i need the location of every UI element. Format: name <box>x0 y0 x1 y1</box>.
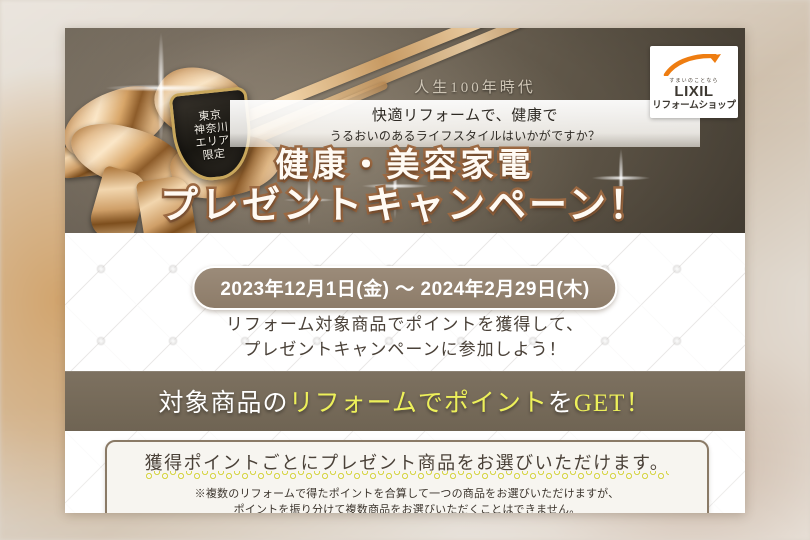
subtitle-line-1: リフォーム対象商品でポイントを獲得して、 <box>65 312 745 337</box>
band-text: 対象商品のリフォームでポイントをGET！ <box>159 383 652 419</box>
campaign-period-pill: 2023年12月1日(金) 〜 2024年2月29日(木) <box>192 266 617 310</box>
subtitle-line-2: プレゼントキャンペーンに参加しよう！ <box>65 337 745 362</box>
headline-line-1: 健康・美容家電 <box>65 146 745 184</box>
bottom-section: 獲得ポイントごとにプレゼント商品をお選びいただけます。 ※複数のリフォームで得た… <box>65 431 745 513</box>
hero-section: 東京 神奈川 エリア 限定 人生100年時代 快適リフォームで、健康で うるおい… <box>65 28 745 233</box>
lixil-swoosh-icon <box>663 54 725 76</box>
eyebrow-text: 人生100年時代 <box>295 76 655 97</box>
lead-copy-band: 快適リフォームで、健康で うるおいのあるライフスタイルはいかがですか？ <box>230 100 700 147</box>
banner-screenshot: 東京 神奈川 エリア 限定 人生100年時代 快適リフォームで、健康で うるおい… <box>0 0 810 540</box>
band-text-part-2: リフォームでポイント <box>289 390 548 417</box>
note-box: 獲得ポイントごとにプレゼント商品をお選びいただけます。 ※複数のリフォームで得た… <box>105 440 709 513</box>
headline: 健康・美容家電 プレゼントキャンペーン！ <box>65 146 745 228</box>
lixil-reform-shop-logo: すまいのことなら LIXIL リフォームショップ <box>650 46 738 118</box>
band-text-part-1: 対象商品の <box>159 390 289 417</box>
subtitle-block: リフォーム対象商品でポイントを獲得して、 プレゼントキャンペーンに参加しよう！ <box>65 312 745 362</box>
note-line-1: ※複数のリフォームで得たポイントを合算して一つの商品をお選びいただけますが、 <box>195 486 620 502</box>
note-line-2: ポイントを振り分けて複数商品をお選びいただくことはできません。 <box>195 502 620 514</box>
note-body: ※複数のリフォームで得たポイントを合算して一つの商品をお選びいただけますが、 ポ… <box>195 486 620 514</box>
headline-line-2: プレゼントキャンペーン！ <box>65 184 745 228</box>
logo-name: LIXIL <box>674 84 713 100</box>
logo-subname: リフォームショップ <box>652 100 735 112</box>
get-points-band: 対象商品のリフォームでポイントをGET！ <box>65 371 745 431</box>
period-text: 2023年12月1日(金) 〜 2024年2月29日(木) <box>220 279 589 300</box>
lead-line-2: うるおいのあるライフスタイルはいかがですか？ <box>330 127 601 144</box>
band-text-part-4: GET！ <box>574 390 652 417</box>
badge-line-1: 東京 <box>198 108 222 122</box>
campaign-banner-card[interactable]: 東京 神奈川 エリア 限定 人生100年時代 快適リフォームで、健康で うるおい… <box>65 28 745 513</box>
lead-line-1: 快適リフォームで、健康で <box>372 104 558 125</box>
band-text-part-3: を <box>548 390 574 417</box>
note-heading: 獲得ポイントごとにプレゼント商品をお選びいただけます。 <box>145 449 670 479</box>
